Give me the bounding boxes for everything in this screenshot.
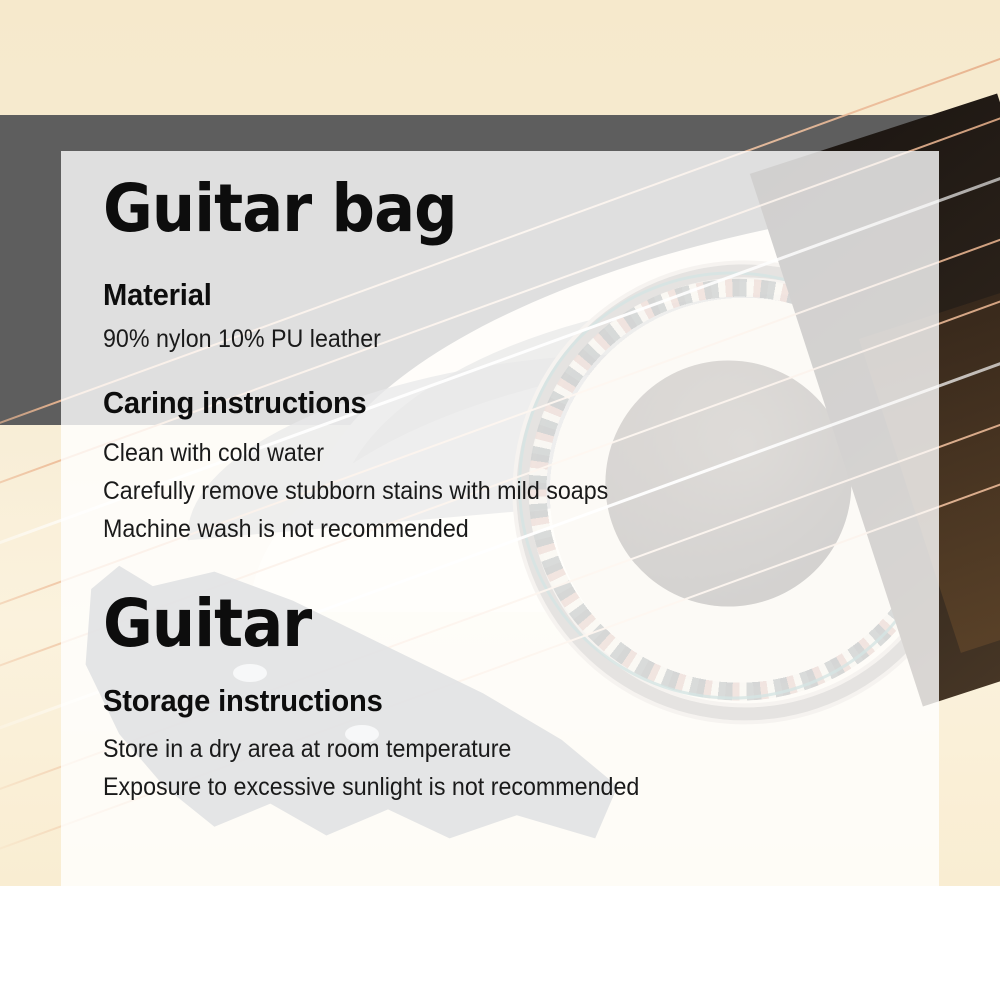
storage-line: Store in a dry area at room temperature <box>103 730 639 768</box>
material-heading: Material <box>103 278 212 312</box>
caring-line: Carefully remove stubborn stains with mi… <box>103 472 608 510</box>
heading-material: Material <box>103 278 219 312</box>
section-title-guitar-bag: Guitar bag <box>103 176 487 242</box>
caring-line: Clean with cold water <box>103 434 608 472</box>
storage-instructions-heading: Storage instructions <box>103 684 383 718</box>
material-line: 90% nylon 10% PU leather <box>103 320 381 358</box>
heading-caring-instructions: Caring instructions <box>103 386 383 420</box>
guitar-title: Guitar <box>103 591 311 657</box>
caring-instructions-heading: Caring instructions <box>103 386 367 420</box>
product-info-card: Guitar bag Material 90% nylon 10% PU lea… <box>0 0 1000 1000</box>
guitar-bag-title: Guitar bag <box>103 176 457 242</box>
caring-line: Machine wash is not recommended <box>103 510 608 548</box>
storage-line: Exposure to excessive sunlight is not re… <box>103 768 639 806</box>
section-title-guitar: Guitar <box>103 591 329 657</box>
heading-storage-instructions: Storage instructions <box>103 684 400 718</box>
storage-instructions-list: Store in a dry area at room temperature … <box>103 730 680 806</box>
material-value: 90% nylon 10% PU leather <box>103 320 402 358</box>
caring-instructions-list: Clean with cold water Carefully remove s… <box>103 434 646 548</box>
